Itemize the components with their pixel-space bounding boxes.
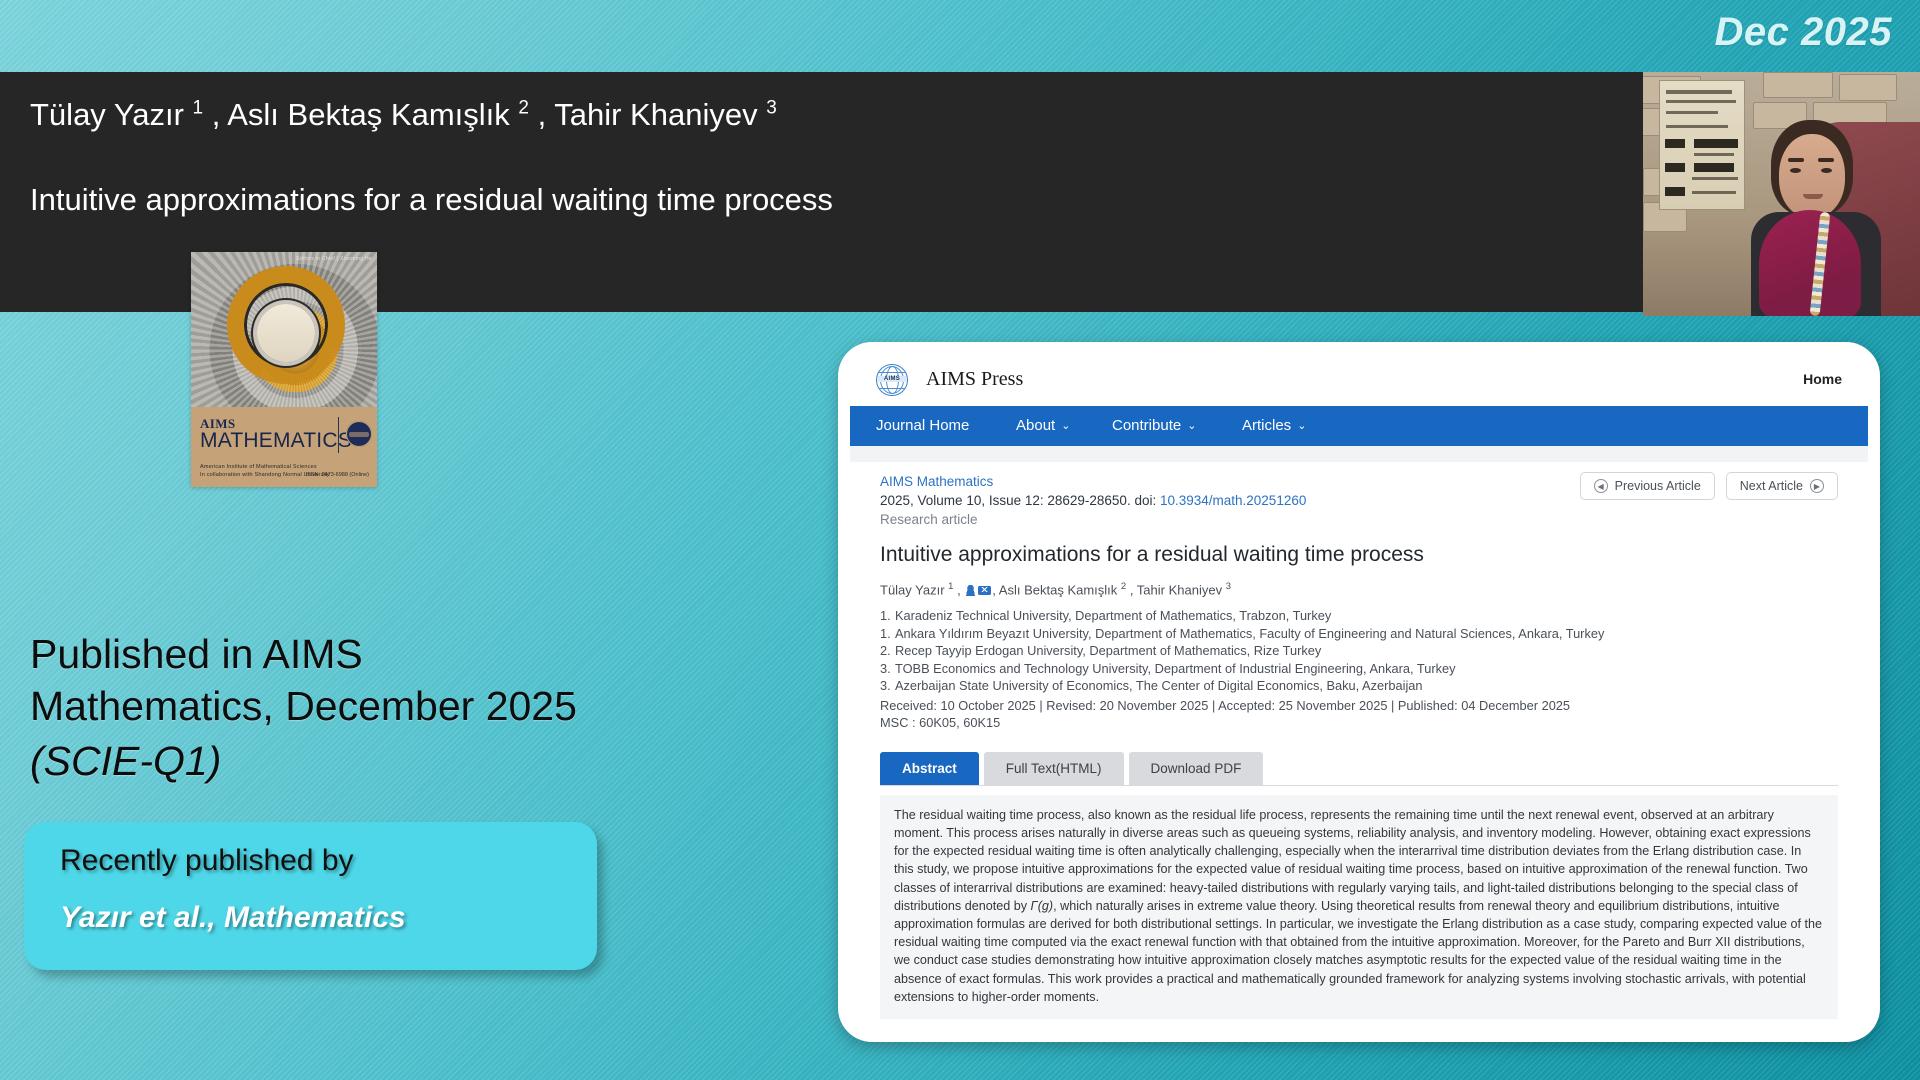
photo-face xyxy=(1779,134,1845,218)
callout-line-1: Recently published by xyxy=(60,844,354,878)
cover-editors-text: Editors in Chief | Xiaoming He xyxy=(296,256,372,262)
affiliation-text: Recep Tayyip Erdogan University, Departm… xyxy=(895,643,1321,658)
nav-item-articles[interactable]: Articles⌄ xyxy=(1242,417,1306,434)
next-article-label: Next Article xyxy=(1740,479,1803,493)
aims-globe-logo-icon: AIMS xyxy=(876,364,908,396)
journal-cover-image: Editors in Chief | Xiaoming He AIMS MATH… xyxy=(191,252,377,487)
article-dates-line: Received: 10 October 2025 | Revised: 20 … xyxy=(880,698,1838,713)
author-sup-2: 2 xyxy=(518,98,529,119)
affiliation-item: 3.Azerbaijan State University of Economi… xyxy=(880,677,1838,695)
nav-label: Articles xyxy=(1242,417,1291,434)
msc-codes-line: MSC : 60K05, 60K15 xyxy=(880,715,1838,730)
chevron-down-icon: ⌄ xyxy=(1061,419,1070,432)
nav-item-contribute[interactable]: Contribute⌄ xyxy=(1112,417,1196,434)
article-content: ◀ Previous Article Next Article ▶ AIMS M… xyxy=(850,462,1868,1019)
article-type-label: Research article xyxy=(880,512,1838,527)
affiliation-text: TOBB Economics and Technology University… xyxy=(895,661,1456,676)
photo-wall-notice-frame xyxy=(1659,80,1745,210)
affiliation-item: 2.Recep Tayyip Erdogan University, Depar… xyxy=(880,642,1838,660)
tab-underline xyxy=(880,785,1838,786)
photo-scarf xyxy=(1759,210,1861,316)
published-in-text: Published in AIMS Mathematics, December … xyxy=(30,628,577,732)
affiliation-text: Karadeniz Technical University, Departme… xyxy=(895,608,1331,623)
affiliation-text: Ankara Yıldırım Beyazıt University, Depa… xyxy=(895,626,1604,641)
cover-issn: ISSN: 2473-6988 (Online) xyxy=(306,472,369,478)
aims-logo-text: AIMS xyxy=(877,376,907,382)
paper-title: Intuitive approximations for a residual … xyxy=(30,182,833,218)
browser-screenshot-card: AIMS AIMS Press Home Journal Home About⌄… xyxy=(838,342,1880,1042)
previous-article-button[interactable]: ◀ Previous Article xyxy=(1580,472,1715,500)
tab-download-pdf[interactable]: Download PDF xyxy=(1129,752,1264,785)
author-name-1: Tülay Yazır xyxy=(30,97,193,132)
photo-eyebrow xyxy=(1818,158,1834,162)
chevron-down-icon: ⌄ xyxy=(1187,419,1196,432)
photo-eye xyxy=(1790,168,1801,173)
issue-citation-text: 2025, Volume 10, Issue 12: 28629-28650. … xyxy=(880,493,1160,508)
speaker-portrait-photo xyxy=(1643,72,1920,316)
affiliation-number: 1. xyxy=(880,607,895,625)
cover-mathematics-label: MATHEMATICS xyxy=(200,429,352,453)
tab-full-text-html[interactable]: Full Text(HTML) xyxy=(984,752,1124,785)
article-author-line: Tülay Yazır 1 , , Aslı Bektaş Kamışlık 2… xyxy=(880,581,1838,597)
site-header: AIMS AIMS Press Home xyxy=(850,354,1868,406)
nav-item-about[interactable]: About⌄ xyxy=(1016,417,1070,434)
slide-canvas: Dec 2025 Tülay Yazır 1 , Aslı Bektaş Kam… xyxy=(0,0,1920,1080)
affiliation-number: 1. xyxy=(880,625,895,643)
tab-abstract[interactable]: Abstract xyxy=(880,752,979,785)
chevron-left-icon: ◀ xyxy=(1594,479,1608,493)
author-affil-sup-3: 3 xyxy=(1226,581,1231,592)
published-line-1: Published in AIMS xyxy=(30,628,577,680)
author-separator: , xyxy=(953,582,964,597)
cover-title-band: AIMS MATHEMATICS American Institute of M… xyxy=(191,407,377,487)
author-name-3: , Tahir Khaniyev xyxy=(1126,582,1225,597)
nav-label: About xyxy=(1016,417,1055,434)
home-link[interactable]: Home xyxy=(1803,371,1842,387)
email-icon[interactable] xyxy=(978,586,991,595)
affiliation-number: 3. xyxy=(880,677,895,695)
cover-spiral-center xyxy=(257,304,315,362)
photo-mouth xyxy=(1803,194,1823,199)
abstract-part-1: The residual waiting time process, also … xyxy=(894,808,1811,913)
nav-under-strip xyxy=(850,446,1868,462)
photo-eyebrow xyxy=(1788,158,1804,162)
chevron-right-icon: ▶ xyxy=(1810,479,1824,493)
affiliation-item: 1.Karadeniz Technical University, Depart… xyxy=(880,607,1838,625)
author-sep-1: , Aslı Bektaş Kamışlık xyxy=(203,97,518,132)
authors-line: Tülay Yazır 1 , Aslı Bektaş Kamışlık 2 ,… xyxy=(30,97,777,133)
next-article-button[interactable]: Next Article ▶ xyxy=(1726,472,1838,500)
callout-line-2: Yazır et al., Mathematics xyxy=(60,901,406,935)
photo-brick xyxy=(1839,74,1897,101)
article-tabs: Abstract Full Text(HTML) Download PDF xyxy=(880,752,1838,785)
affiliation-text: Azerbaijan State University of Economics… xyxy=(895,678,1423,693)
previous-article-label: Previous Article xyxy=(1615,479,1701,493)
affiliation-number: 3. xyxy=(880,660,895,678)
browser-page: AIMS AIMS Press Home Journal Home About⌄… xyxy=(850,354,1868,1030)
cover-globe-icon xyxy=(346,421,372,447)
main-nav-bar: Journal Home About⌄ Contribute⌄ Articles… xyxy=(850,406,1868,446)
nav-item-journal-home[interactable]: Journal Home xyxy=(876,417,969,434)
affiliation-item: 1.Ankara Yıldırım Beyazıt University, De… xyxy=(880,625,1838,643)
article-title: Intuitive approximations for a residual … xyxy=(880,543,1838,567)
date-label: Dec 2025 xyxy=(1715,10,1892,55)
author-sep-2: , Tahir Khaniyev xyxy=(529,97,766,132)
affiliation-number: 2. xyxy=(880,642,895,660)
scie-quartile-text: (SCIE-Q1) xyxy=(30,738,221,785)
site-name: AIMS Press xyxy=(926,368,1023,391)
cover-subtitle-1: American Institute of Mathematical Scien… xyxy=(200,464,317,470)
abstract-text: The residual waiting time process, also … xyxy=(880,795,1838,1019)
nav-label: Journal Home xyxy=(876,417,969,434)
author-sup-3: 3 xyxy=(766,98,777,119)
nav-label: Contribute xyxy=(1112,417,1181,434)
chevron-down-icon: ⌄ xyxy=(1297,419,1306,432)
article-pager: ◀ Previous Article Next Article ▶ xyxy=(1580,472,1838,500)
doi-link[interactable]: 10.3934/math.20251260 xyxy=(1160,493,1306,508)
affiliation-item: 3.TOBB Economics and Technology Universi… xyxy=(880,660,1838,678)
abstract-math-symbol: Γ(g) xyxy=(1031,899,1054,913)
photo-eye xyxy=(1821,168,1832,173)
published-line-2: Mathematics, December 2025 xyxy=(30,680,577,732)
recently-published-callout: Recently published by Yazır et al., Math… xyxy=(24,822,597,970)
affiliations-list: 1.Karadeniz Technical University, Depart… xyxy=(880,607,1838,695)
photo-brick xyxy=(1763,72,1833,98)
author-name-1: Tülay Yazır xyxy=(880,582,948,597)
cover-divider xyxy=(338,417,339,453)
author-profile-icon[interactable] xyxy=(965,585,976,596)
abstract-part-2: , which naturally arises in extreme valu… xyxy=(894,899,1822,1004)
author-name-2: , Aslı Bektaş Kamışlık xyxy=(992,582,1121,597)
author-sup-1: 1 xyxy=(193,98,204,119)
